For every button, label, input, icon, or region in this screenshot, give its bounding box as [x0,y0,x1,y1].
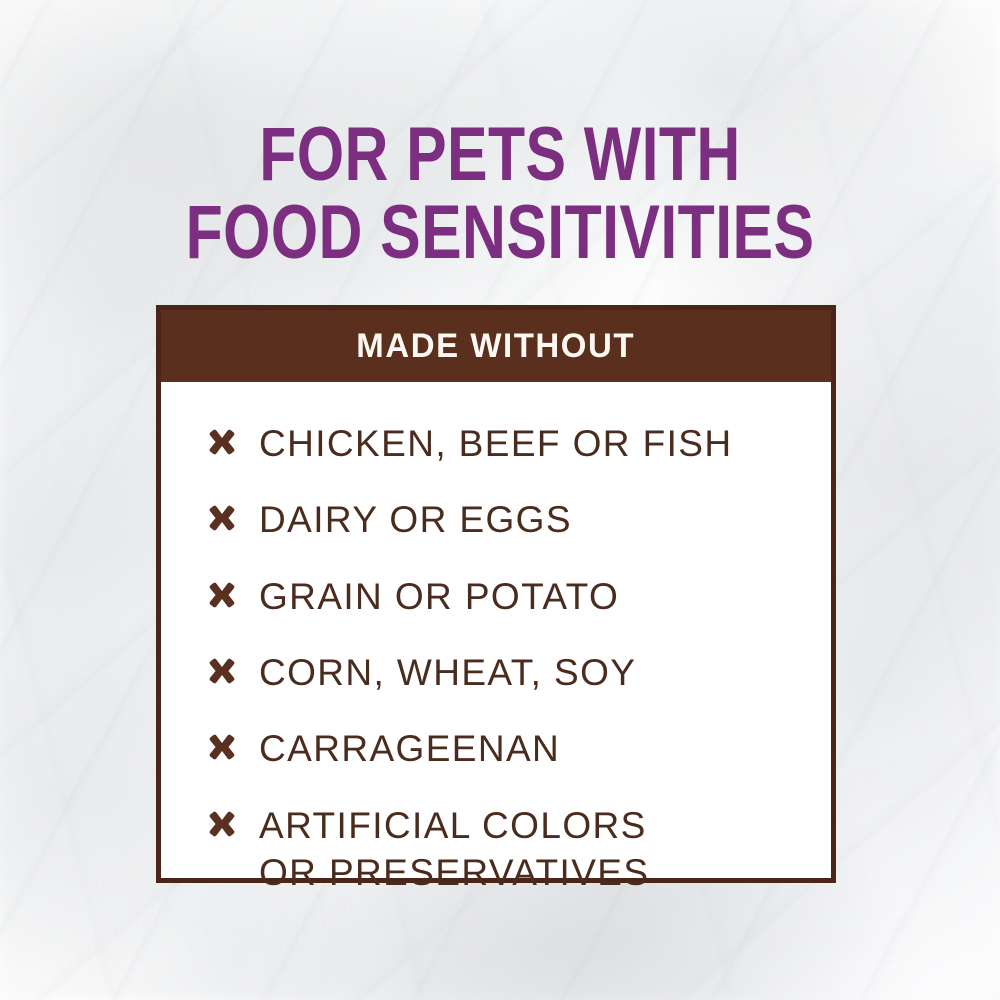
x-mark-icon [207,580,237,610]
card-header-bar: MADE WITHOUT [161,310,831,382]
list-item-label: CARRAGEENAN [259,725,560,772]
x-mark-icon [207,809,237,839]
made-without-card: MADE WITHOUT CHICKEN, BEEF OR FISH DAIRY… [156,305,836,883]
card-header-title: MADE WITHOUT [357,327,636,366]
page-title-line-2: FOOD SENSITIVITIES [100,196,900,270]
list-item: CHICKEN, BEEF OR FISH [207,420,831,467]
page-title: FOR PETS WITH FOOD SENSITIVITIES [0,118,1000,271]
list-item: CARRAGEENAN [207,725,831,772]
x-mark-icon [207,656,237,686]
x-mark-icon [207,427,237,457]
excluded-ingredients-list: CHICKEN, BEEF OR FISH DAIRY OR EGGS GRAI… [161,382,831,897]
list-item-label: GRAIN OR POTATO [259,573,619,620]
list-item-label: CORN, WHEAT, SOY [259,649,636,696]
marble-poster: FOR PETS WITH FOOD SENSITIVITIES MADE WI… [0,0,1000,1000]
page-title-line-1: FOR PETS WITH [100,118,900,192]
list-item: CORN, WHEAT, SOY [207,649,831,696]
x-mark-icon [207,732,237,762]
list-item: ARTIFICIAL COLORS OR PRESERVATIVES [207,802,831,897]
list-item-label: CHICKEN, BEEF OR FISH [259,420,732,467]
list-item: GRAIN OR POTATO [207,573,831,620]
list-item-label: ARTIFICIAL COLORS OR PRESERVATIVES [259,802,649,897]
list-item-label: DAIRY OR EGGS [259,496,572,543]
x-mark-icon [207,503,237,533]
list-item: DAIRY OR EGGS [207,496,831,543]
